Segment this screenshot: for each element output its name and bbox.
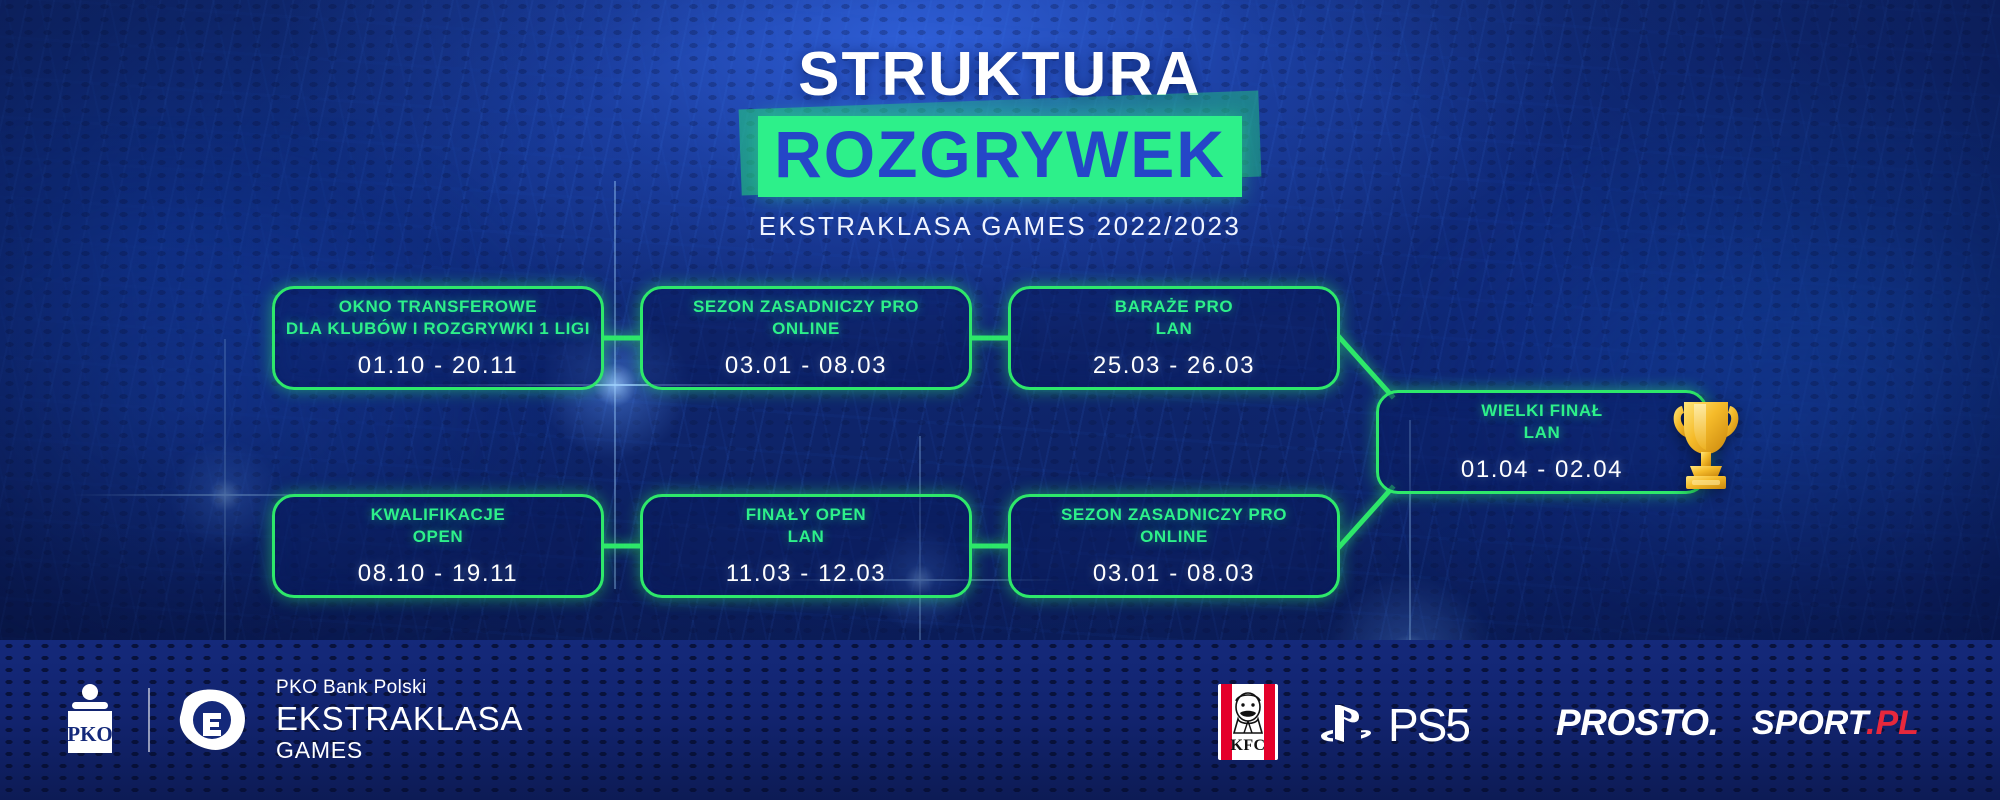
stage-title: FINAŁY OPEN LAN [746, 504, 867, 548]
ekstraklasa-main-line: EKSTRAKLASA [276, 702, 523, 735]
sportpl-tld: .PL [1866, 704, 1919, 742]
footer-divider [148, 688, 150, 752]
ps5-logo: PS5 [1318, 698, 1469, 752]
stage-title: SEZON ZASADNICZY PRO ONLINE [1061, 504, 1287, 548]
footer-brand-group: PKO PKO Bank Polski EKSTRAKLASA GAMES [58, 678, 523, 762]
stage-title: KWALIFIKACJE OPEN [371, 504, 506, 548]
kfc-logo: KFC [1218, 684, 1278, 760]
kfc-wordmark: KFC [1231, 737, 1266, 755]
connector-to-final-bottom [1340, 488, 1392, 546]
svg-text:PKO: PKO [67, 722, 113, 746]
stage-title: WIELKI FINAŁ LAN [1481, 400, 1602, 444]
stage-box-finaly-open-lan[interactable]: FINAŁY OPEN LAN 11.03 - 12.03 [640, 494, 972, 598]
stage-box-sezon-zasadniczy-pro-online-1[interactable]: SEZON ZASADNICZY PRO ONLINE 03.01 - 08.0… [640, 286, 972, 390]
stage-box-baraze-pro-lan[interactable]: BARAŻE PRO LAN 25.03 - 26.03 [1008, 286, 1340, 390]
trophy-icon [1668, 388, 1744, 492]
connector-to-final-top [1340, 338, 1392, 396]
stage-date: 01.04 - 02.04 [1461, 456, 1623, 484]
stage-title: OKNO TRANSFEROWE DLA KLUBÓW I ROZGRYWKI … [286, 296, 590, 340]
stage-date: 03.01 - 08.03 [1093, 560, 1255, 588]
sportpl-logo: SPORT.PL [1752, 704, 1919, 743]
ps5-wordmark: PS5 [1388, 698, 1469, 752]
stage-title: SEZON ZASADNICZY PRO ONLINE [693, 296, 919, 340]
ekstraklasa-games-mark-icon [176, 687, 250, 753]
ekstraklasa-games-line: GAMES [276, 739, 523, 762]
stage-date: 25.03 - 26.03 [1093, 352, 1255, 380]
sportpl-word: SPORT [1752, 704, 1866, 742]
stage-date: 08.10 - 19.11 [358, 560, 518, 588]
infographic-canvas: STRUKTURA ROZGRYWEK EKSTRAKLASA GAMES 20… [0, 0, 2000, 800]
footer-bar: PKO PKO Bank Polski EKSTRAKLASA GAMES [0, 640, 2000, 800]
playstation-icon [1318, 702, 1374, 748]
prosto-logo: PROSTO. [1556, 702, 1718, 744]
pko-bank-polski-logo: PKO [58, 683, 122, 757]
stage-title: BARAŻE PRO LAN [1115, 296, 1233, 340]
stage-box-kwalifikacje-open[interactable]: KWALIFIKACJE OPEN 08.10 - 19.11 [272, 494, 604, 598]
ekstraklasa-games-wordmark: PKO Bank Polski EKSTRAKLASA GAMES [276, 678, 523, 762]
ekstraklasa-bank-line: PKO Bank Polski [276, 678, 523, 697]
kfc-colonel-icon [1226, 689, 1270, 737]
stage-box-sezon-zasadniczy-pro-online-2[interactable]: SEZON ZASADNICZY PRO ONLINE 03.01 - 08.0… [1008, 494, 1340, 598]
stage-box-okno-transferowe[interactable]: OKNO TRANSFEROWE DLA KLUBÓW I ROZGRYWKI … [272, 286, 604, 390]
stage-box-wielki-final[interactable]: WIELKI FINAŁ LAN 01.04 - 02.04 [1376, 390, 1708, 494]
stage-date: 03.01 - 08.03 [725, 352, 887, 380]
stage-date: 11.03 - 12.03 [726, 560, 886, 588]
stage-date: 01.10 - 20.11 [358, 352, 518, 380]
